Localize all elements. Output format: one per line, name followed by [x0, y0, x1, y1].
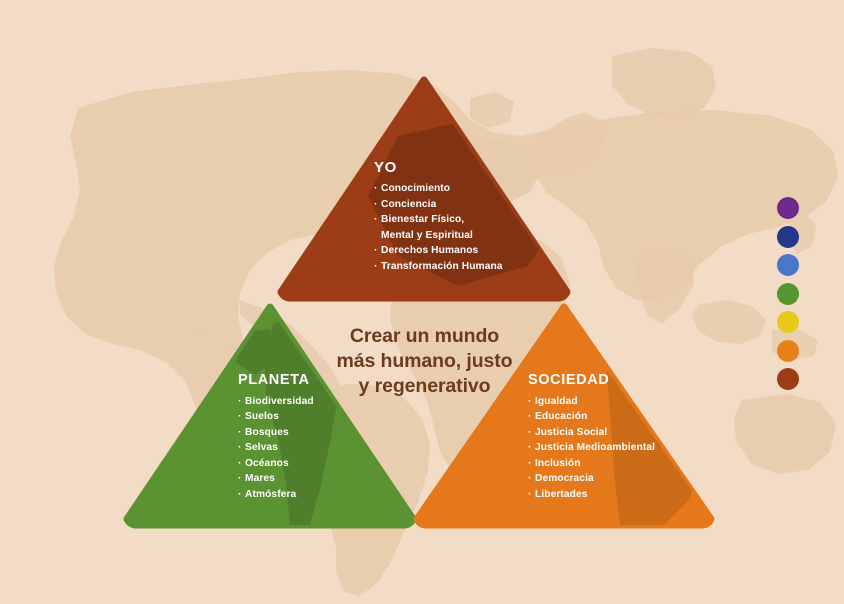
chakra-dot-column	[777, 197, 801, 397]
bullet-icon: ·	[528, 490, 535, 500]
list-item: ·Igualdad	[528, 397, 655, 407]
list-item-label: Transformación Humana	[381, 261, 503, 272]
bullet-icon: ·	[374, 215, 381, 225]
claim-line-2: más humano, justo	[322, 349, 527, 374]
list-item-label: Mares	[245, 473, 275, 484]
list-item: ·Atmósfera	[238, 490, 314, 500]
list-item: ·Educación	[528, 412, 655, 422]
list-item: ·Justicia Social	[528, 428, 655, 438]
bullet-icon: ·	[238, 459, 245, 469]
bullet-icon: ·	[238, 490, 245, 500]
pillar-heading-yo: YO	[374, 160, 503, 175]
list-item-label: Selvas	[245, 442, 278, 453]
list-item-label: Suelos	[245, 411, 279, 422]
pillar-list-yo: ·Conocimiento ·Conciencia ·Bienestar Fís…	[374, 184, 503, 272]
list-item: ·Bosques	[238, 428, 314, 438]
list-item: ·Inclusión	[528, 459, 655, 469]
pillar-heading-sociedad: SOCIEDAD	[528, 373, 655, 388]
list-item-label: Biodiversidad	[245, 396, 314, 407]
bullet-icon: ·	[528, 397, 535, 407]
dot-yellow-icon	[777, 311, 799, 333]
bullet-icon: ·	[238, 412, 245, 422]
dot-indigo-icon	[777, 226, 799, 248]
list-item-label: Océanos	[245, 458, 289, 469]
pillar-text-yo: YO ·Conocimiento ·Conciencia ·Bienestar …	[374, 160, 503, 278]
bullet-icon: ·	[238, 397, 245, 407]
bullet-icon: ·	[528, 474, 535, 484]
pillar-text-sociedad: SOCIEDAD ·Igualdad ·Educación ·Justicia …	[528, 373, 655, 506]
pillar-list-sociedad: ·Igualdad ·Educación ·Justicia Social ·J…	[528, 397, 655, 501]
list-item: ·Libertades	[528, 490, 655, 500]
list-item: ·Conocimiento	[374, 184, 503, 194]
center-claim: Crear un mundo más humano, justo y regen…	[322, 324, 527, 399]
bullet-icon: ·	[374, 200, 381, 210]
dot-violet-icon	[777, 197, 799, 219]
bullet-icon: ·	[374, 246, 381, 256]
dot-blue-icon	[777, 254, 799, 276]
list-item-label: Atmósfera	[245, 489, 296, 500]
dot-green-icon	[777, 283, 799, 305]
list-item-label: Conocimiento	[381, 183, 450, 194]
list-item-label: Mental y Espiritual	[381, 230, 473, 241]
list-item: ·Bienestar Físico,	[374, 215, 503, 225]
list-item: ·Conciencia	[374, 200, 503, 210]
list-item: ·Biodiversidad	[238, 397, 314, 407]
list-item: ·Océanos	[238, 459, 314, 469]
pillar-list-planeta: ·Biodiversidad ·Suelos ·Bosques ·Selvas …	[238, 397, 314, 501]
pillar-heading-planeta: PLANETA	[238, 373, 314, 388]
bullet-icon: ·	[528, 412, 535, 422]
bullet-icon: ·	[528, 443, 535, 453]
list-item: ·Transformación Humana	[374, 262, 503, 272]
bullet-icon: ·	[238, 428, 245, 438]
claim-line-1: Crear un mundo	[322, 324, 527, 349]
list-item: ·Suelos	[238, 412, 314, 422]
list-item-label: Conciencia	[381, 199, 436, 210]
dot-orange-icon	[777, 340, 799, 362]
list-item-label: Igualdad	[535, 396, 578, 407]
bullet-icon: ·	[528, 459, 535, 469]
list-item-label: Bosques	[245, 427, 289, 438]
list-item-label: Bienestar Físico,	[381, 214, 464, 225]
list-item-label: Libertades	[535, 489, 588, 500]
list-item-label: Inclusión	[535, 458, 581, 469]
list-item: ·Selvas	[238, 443, 314, 453]
dot-red-brown-icon	[777, 368, 799, 390]
infographic-canvas: YO ·Conocimiento ·Conciencia ·Bienestar …	[0, 0, 844, 604]
list-item: ·Mares	[238, 474, 314, 484]
list-item: ·Mental y Espiritual	[374, 231, 503, 241]
pillar-text-planeta: PLANETA ·Biodiversidad ·Suelos ·Bosques …	[238, 373, 314, 506]
list-item-label: Democracia	[535, 473, 594, 484]
claim-line-3: y regenerativo	[322, 374, 527, 399]
bullet-icon: ·	[238, 443, 245, 453]
list-item-label: Justicia Social	[535, 427, 607, 438]
list-item: ·Democracia	[528, 474, 655, 484]
list-item: ·Justicia Medioambiental	[528, 443, 655, 453]
list-item-label: Educación	[535, 411, 587, 422]
bullet-icon: ·	[374, 184, 381, 194]
list-item: ·Derechos Humanos	[374, 246, 503, 256]
list-item-label: Justicia Medioambiental	[535, 442, 655, 453]
bullet-icon: ·	[528, 428, 535, 438]
bullet-icon: ·	[238, 474, 245, 484]
bullet-icon: ·	[374, 262, 381, 272]
list-item-label: Derechos Humanos	[381, 245, 478, 256]
